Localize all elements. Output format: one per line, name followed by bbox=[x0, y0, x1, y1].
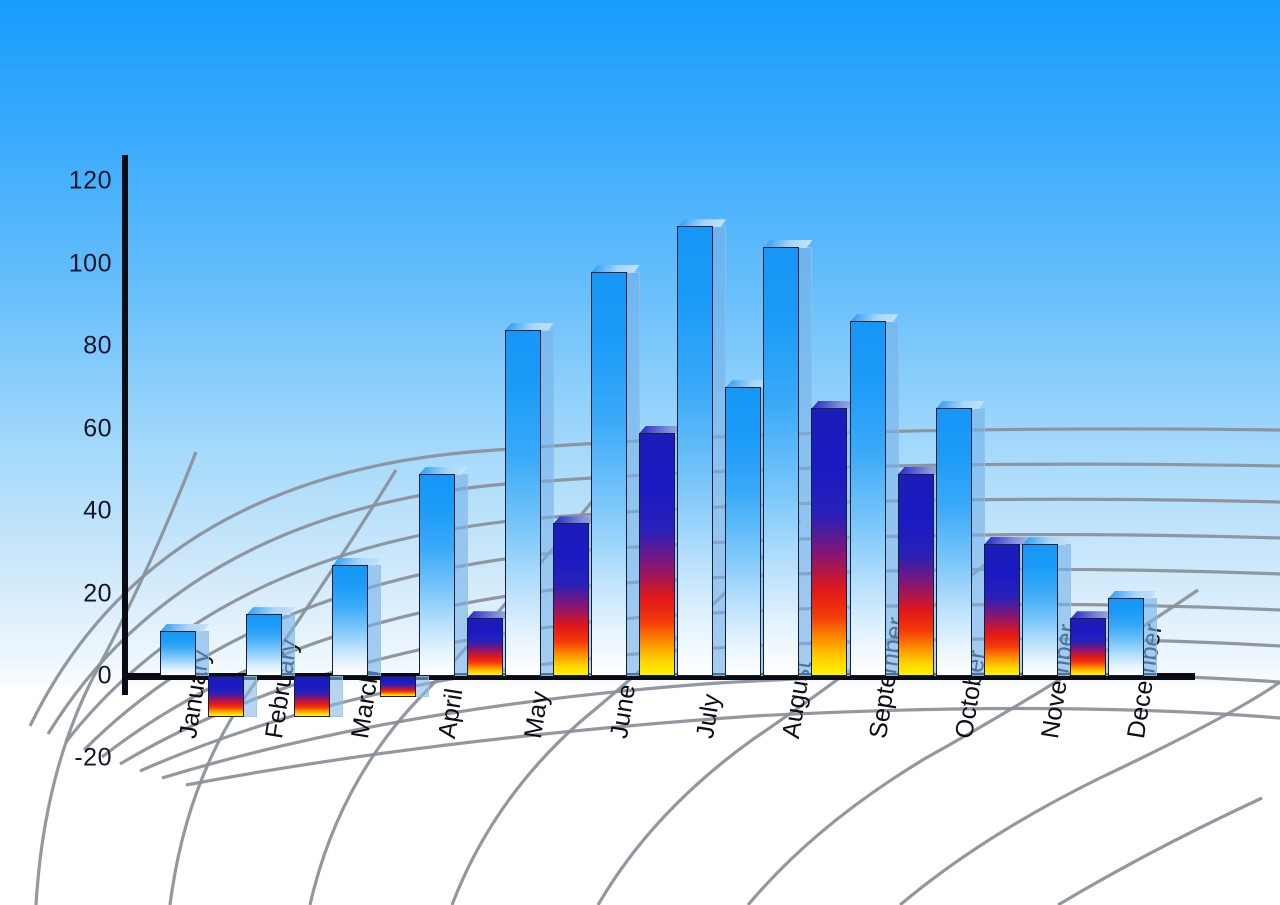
bar-series2-september[interactable] bbox=[898, 474, 934, 676]
bar-front-face bbox=[850, 321, 886, 676]
y-tick-label-60: 60 bbox=[83, 414, 112, 443]
bar-series2-july[interactable] bbox=[725, 387, 761, 676]
bar-front-face bbox=[380, 676, 416, 697]
bar-series2-february[interactable] bbox=[294, 676, 330, 717]
bar-series2-october[interactable] bbox=[984, 544, 1020, 676]
bar-side-face bbox=[330, 676, 343, 717]
bar-series2-january[interactable] bbox=[208, 676, 244, 717]
y-tick-label-0: 0 bbox=[98, 662, 112, 691]
bar-front-face bbox=[1108, 598, 1144, 676]
y-axis-line bbox=[122, 155, 128, 695]
bar-side-face bbox=[282, 614, 295, 676]
bar-front-face bbox=[725, 387, 761, 676]
bar-series1-september[interactable] bbox=[850, 321, 886, 676]
bar-series1-february[interactable] bbox=[246, 614, 282, 676]
bar-front-face bbox=[1070, 618, 1106, 676]
bar-series1-december[interactable] bbox=[1108, 598, 1144, 676]
bar-front-face bbox=[677, 226, 713, 676]
bar-side-face bbox=[1144, 598, 1157, 676]
bar-series1-january[interactable] bbox=[160, 631, 196, 676]
bar-front-face bbox=[160, 631, 196, 676]
bar-front-face bbox=[936, 408, 972, 676]
bar-front-face bbox=[898, 474, 934, 676]
bar-side-face bbox=[416, 676, 429, 697]
y-tick-label-120: 120 bbox=[69, 167, 112, 196]
bar-series2-august[interactable] bbox=[811, 408, 847, 676]
bar-series1-august[interactable] bbox=[763, 247, 799, 676]
bar-front-face bbox=[591, 272, 627, 676]
bar-series2-march[interactable] bbox=[380, 676, 416, 697]
bar-series2-november[interactable] bbox=[1070, 618, 1106, 676]
bar-series1-october[interactable] bbox=[936, 408, 972, 676]
bar-series2-may[interactable] bbox=[553, 523, 589, 676]
bar-series1-november[interactable] bbox=[1022, 544, 1058, 676]
bar-front-face bbox=[505, 330, 541, 677]
bar-front-face bbox=[1022, 544, 1058, 676]
bar-front-face bbox=[984, 544, 1020, 676]
bar-side-face bbox=[196, 631, 209, 676]
bar-front-face bbox=[208, 676, 244, 717]
y-tick-label-neg20: -20 bbox=[74, 744, 112, 773]
bar-series1-june[interactable] bbox=[591, 272, 627, 676]
bar-series1-july[interactable] bbox=[677, 226, 713, 676]
bar-series1-march[interactable] bbox=[332, 565, 368, 676]
bar-front-face bbox=[639, 433, 675, 676]
bar-front-face bbox=[553, 523, 589, 676]
bar-series2-april[interactable] bbox=[467, 618, 503, 676]
bar-front-face bbox=[332, 565, 368, 676]
bar-front-face bbox=[419, 474, 455, 676]
y-tick-label-40: 40 bbox=[83, 497, 112, 526]
bar-front-face bbox=[467, 618, 503, 676]
y-tick-label-100: 100 bbox=[69, 249, 112, 278]
plot-area bbox=[0, 0, 1280, 905]
bar-series1-may[interactable] bbox=[505, 330, 541, 677]
bar-side-face bbox=[244, 676, 257, 717]
bar-series1-april[interactable] bbox=[419, 474, 455, 676]
chart-root: 120100806040200-20 JanuaryFebruaryMarchA… bbox=[0, 0, 1280, 905]
y-tick-label-80: 80 bbox=[83, 332, 112, 361]
bar-side-face bbox=[368, 565, 381, 676]
bar-front-face bbox=[811, 408, 847, 676]
bar-front-face bbox=[246, 614, 282, 676]
bar-front-face bbox=[763, 247, 799, 676]
bar-front-face bbox=[294, 676, 330, 717]
bar-series2-june[interactable] bbox=[639, 433, 675, 676]
y-tick-label-20: 20 bbox=[83, 579, 112, 608]
